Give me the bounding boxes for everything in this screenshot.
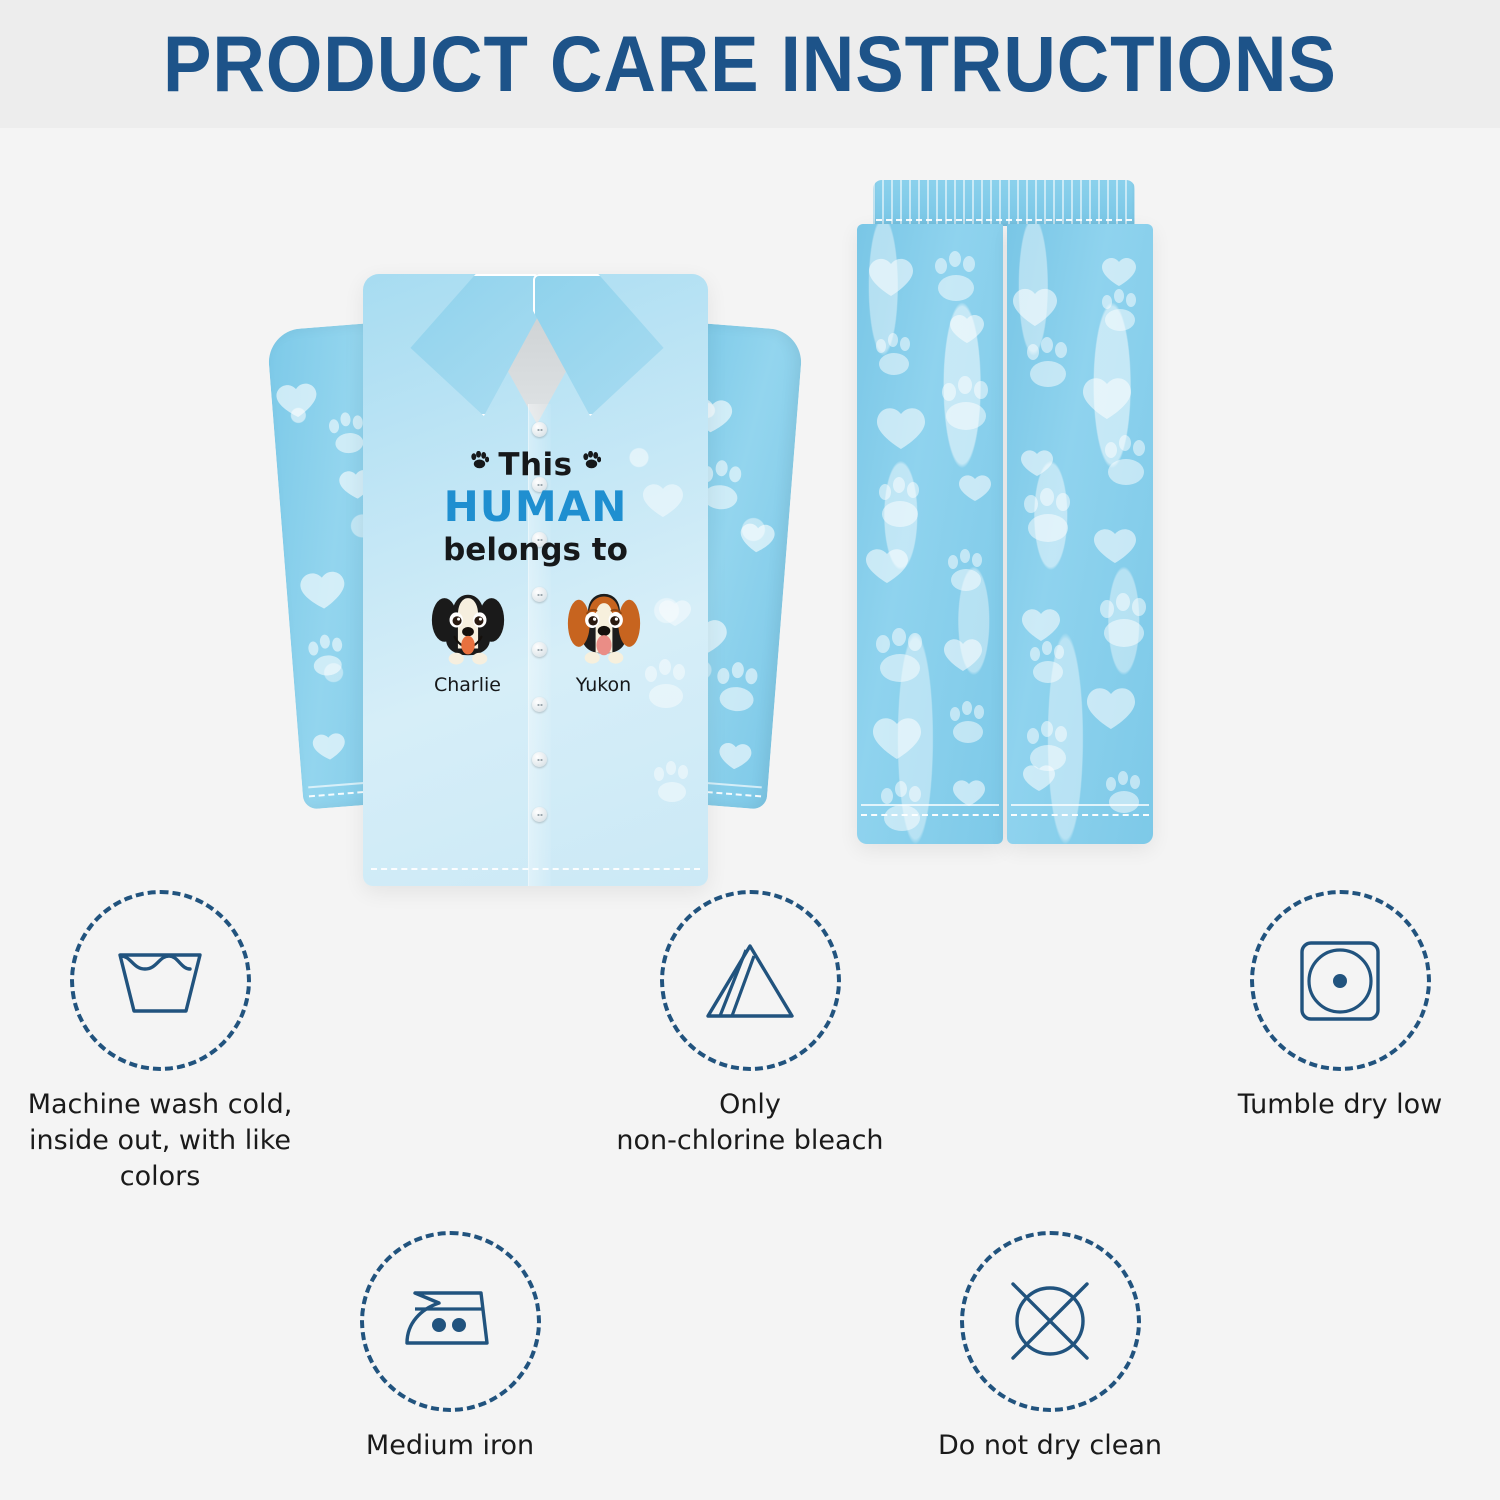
pet-portrait: Yukon: [562, 583, 646, 696]
left-hem-stitch-inner: [861, 804, 999, 806]
page-header: PRODUCT CARE INSTRUCTIONS: [0, 0, 1500, 128]
paw-print-icon: [470, 451, 489, 473]
print-text-human: HUMAN: [363, 483, 708, 531]
shirt-button[interactable]: [532, 807, 547, 822]
pants-left-leg: [857, 224, 1003, 844]
care-symbols-row-1: Machine wash cold, inside out, with like…: [0, 890, 1500, 1195]
pants-pattern-icon: [857, 224, 1003, 844]
dog-beagle-icon: [562, 583, 646, 667]
care-item-bleach: Only non-chlorine bleach: [600, 890, 900, 1195]
care-caption: Machine wash cold, inside out, with like…: [10, 1087, 310, 1195]
collar-right: [533, 274, 669, 416]
print-line-1: This: [363, 450, 708, 481]
non-chlorine-bleach-triangle-icon: [704, 940, 796, 1022]
product-image-stage: This HUMAN belongs to: [0, 128, 1500, 888]
care-item-dry-clean: Do not dry clean: [900, 1231, 1200, 1464]
pants-right-leg: [1007, 224, 1153, 844]
pajama-top: This HUMAN belongs to: [285, 238, 785, 898]
care-circle: [360, 1231, 541, 1412]
page-title: PRODUCT CARE INSTRUCTIONS: [163, 18, 1337, 110]
right-hem-stitch-inner: [1011, 804, 1149, 806]
pajama-pants: [835, 180, 1175, 880]
care-item-iron: Medium iron: [300, 1231, 600, 1464]
care-circle: [660, 890, 841, 1071]
do-not-dry-clean-icon: [1004, 1275, 1096, 1367]
pet-portrait-list: Charlie: [363, 583, 708, 696]
care-caption: Do not dry clean: [938, 1428, 1162, 1464]
elastic-waistband: [873, 180, 1135, 226]
care-circle: [1250, 890, 1431, 1071]
care-caption: Only non-chlorine bleach: [616, 1087, 883, 1159]
care-caption: Tumble dry low: [1238, 1087, 1443, 1123]
dog-border-collie-icon: [426, 583, 510, 667]
left-hem-stitch: [861, 814, 999, 816]
print-text-this: This: [498, 447, 572, 483]
print-text-belongs-to: belongs to: [363, 532, 708, 569]
care-symbols-section: Machine wash cold, inside out, with like…: [0, 890, 1500, 1464]
right-hem-stitch: [1011, 814, 1149, 816]
care-caption: Medium iron: [366, 1428, 534, 1464]
pet-name: Yukon: [562, 674, 646, 696]
shirt-button[interactable]: [532, 422, 547, 437]
pet-portrait: Charlie: [426, 583, 510, 696]
pet-name: Charlie: [426, 674, 510, 696]
care-symbols-row-2: Medium iron Do not dry clean: [0, 1231, 1500, 1464]
care-circle: [960, 1231, 1141, 1412]
paw-print-icon: [582, 451, 601, 473]
tumble-dry-low-icon: [1297, 938, 1383, 1024]
care-circle: [70, 890, 251, 1071]
care-item-tumble-dry: Tumble dry low: [1190, 890, 1490, 1195]
care-item-machine-wash: Machine wash cold, inside out, with like…: [10, 890, 310, 1195]
wash-basin-icon: [112, 939, 208, 1023]
shirt-hem-stitch: [371, 868, 700, 870]
medium-iron-icon: [401, 1287, 499, 1355]
collar-left: [405, 274, 541, 416]
pants-pattern-icon: [1007, 224, 1153, 844]
shirt-button[interactable]: [532, 752, 547, 767]
shirt-print-graphic: This HUMAN belongs to: [363, 450, 708, 696]
shirt-body: This HUMAN belongs to: [363, 274, 708, 886]
shirt-button[interactable]: [532, 697, 547, 712]
